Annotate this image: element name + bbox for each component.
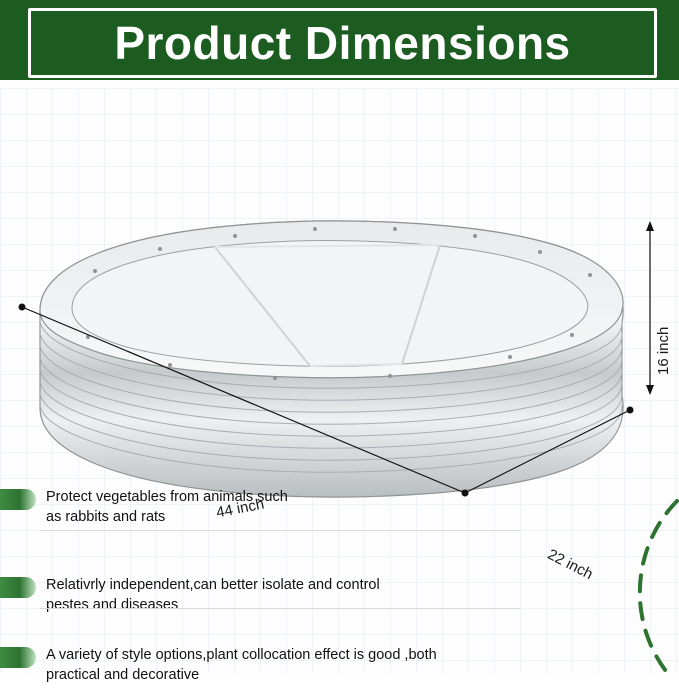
divider: [40, 608, 520, 609]
list-item: A variety of style options,plant colloca…: [0, 636, 560, 700]
bullet-marker-icon: [0, 489, 36, 510]
product-illustration: 44 inch 22 inch 16 inch: [10, 95, 670, 515]
feature-text: A variety of style options,plant colloca…: [46, 646, 437, 685]
feature-text-line2: pestes and diseases: [46, 596, 380, 616]
feature-text: Relativrly independent,can better isolat…: [46, 576, 380, 615]
bed-inner-opening: [72, 241, 588, 367]
feature-text-line1: A variety of style options,plant colloca…: [46, 646, 437, 666]
bullet-marker-icon: [0, 647, 36, 668]
list-item: Protect vegetables from animals such as …: [0, 478, 560, 542]
page-title: Product Dimensions: [114, 20, 570, 66]
list-item: Relativrly independent,can better isolat…: [0, 566, 560, 630]
divider: [40, 530, 520, 531]
dimension-label-height: 16 inch: [655, 327, 672, 375]
feature-text: Protect vegetables from animals such as …: [46, 488, 288, 527]
feature-text-line1: Relativrly independent,can better isolat…: [46, 576, 380, 596]
feature-text-line1: Protect vegetables from animals such: [46, 488, 288, 508]
raised-garden-bed-drawing: [10, 95, 670, 515]
feature-list: Protect vegetables from animals such as …: [0, 478, 560, 700]
feature-text-line2: as rabbits and rats: [46, 508, 288, 528]
feature-text-line2: practical and decorative: [46, 666, 437, 686]
dashed-arc-icon: [603, 493, 679, 683]
product-dimensions-page: Product Dimensions: [0, 0, 679, 673]
header-banner: Product Dimensions: [0, 0, 679, 80]
header-banner-frame: Product Dimensions: [28, 8, 657, 78]
bullet-marker-icon: [0, 577, 36, 598]
